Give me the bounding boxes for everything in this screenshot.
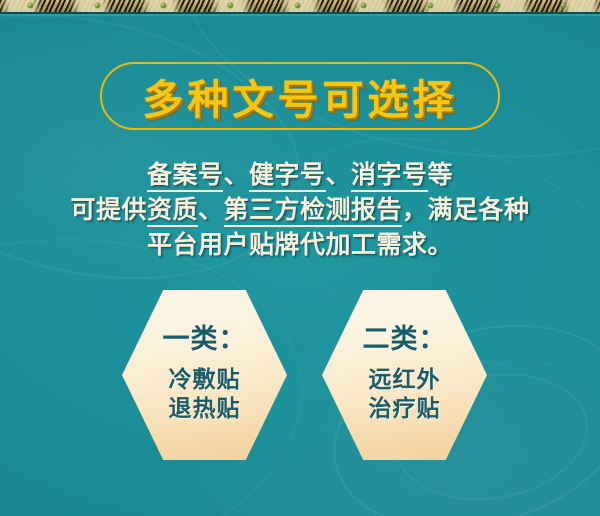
- border-gem-dot: [28, 3, 33, 8]
- body-segment-underlined: 备案号: [147, 160, 224, 192]
- body-line: 备案号、健字号、消字号等: [0, 157, 600, 192]
- hexagon-title: 一类：: [163, 317, 247, 356]
- body-segment: 、: [326, 160, 352, 189]
- body-paragraph: 备案号、健字号、消字号等可提供资质、第三方检测报告，满足各种平台用户贴牌代加工需…: [0, 157, 600, 262]
- hexagon-item: 退热贴: [169, 394, 241, 423]
- border-gem-dot: [295, 3, 300, 8]
- border-gem-dot: [161, 3, 166, 8]
- body-segment: 、: [198, 195, 224, 224]
- border-gem-dot: [228, 3, 233, 8]
- body-segment: 、: [223, 160, 249, 189]
- hexagon-item: 冷敷贴: [169, 365, 241, 394]
- body-segment: 等: [428, 160, 454, 189]
- body-segment: 平台用户贴牌代加工需求。: [147, 230, 453, 259]
- border-gem-dot: [561, 3, 566, 8]
- hexagon-item: 治疗贴: [369, 394, 441, 423]
- page-title: 多种文号可选择: [102, 66, 498, 126]
- border-gem-dot: [361, 3, 366, 8]
- hexagon-item: 远红外: [369, 365, 441, 394]
- hexagon-title: 二类：: [363, 317, 447, 356]
- body-line: 平台用户贴牌代加工需求。: [0, 227, 600, 262]
- body-segment-underlined: 第三方检测报告: [224, 195, 403, 227]
- body-line: 可提供资质、第三方检测报告，满足各种: [0, 192, 600, 227]
- body-segment: 可提供: [70, 195, 147, 224]
- border-gem-dot: [95, 3, 100, 8]
- decorative-border-top: [0, 0, 600, 15]
- body-segment-underlined: 健字号: [249, 160, 326, 192]
- border-underline-teal: [0, 14, 600, 16]
- body-segment: ，满足各种: [402, 195, 530, 224]
- hexagon-items: 远红外 治疗贴: [369, 365, 441, 423]
- border-gem-dot: [495, 3, 500, 8]
- hexagon-items: 冷敷贴 退热贴: [169, 365, 241, 423]
- poster-root: 多种文号可选择 备案号、健字号、消字号等可提供资质、第三方检测报告，满足各种平台…: [0, 0, 600, 516]
- border-gem-dot: [428, 3, 433, 8]
- title-pill-frame: 多种文号可选择: [100, 62, 500, 130]
- body-segment-underlined: 资质: [147, 195, 198, 227]
- body-segment-underlined: 消字号: [351, 160, 428, 192]
